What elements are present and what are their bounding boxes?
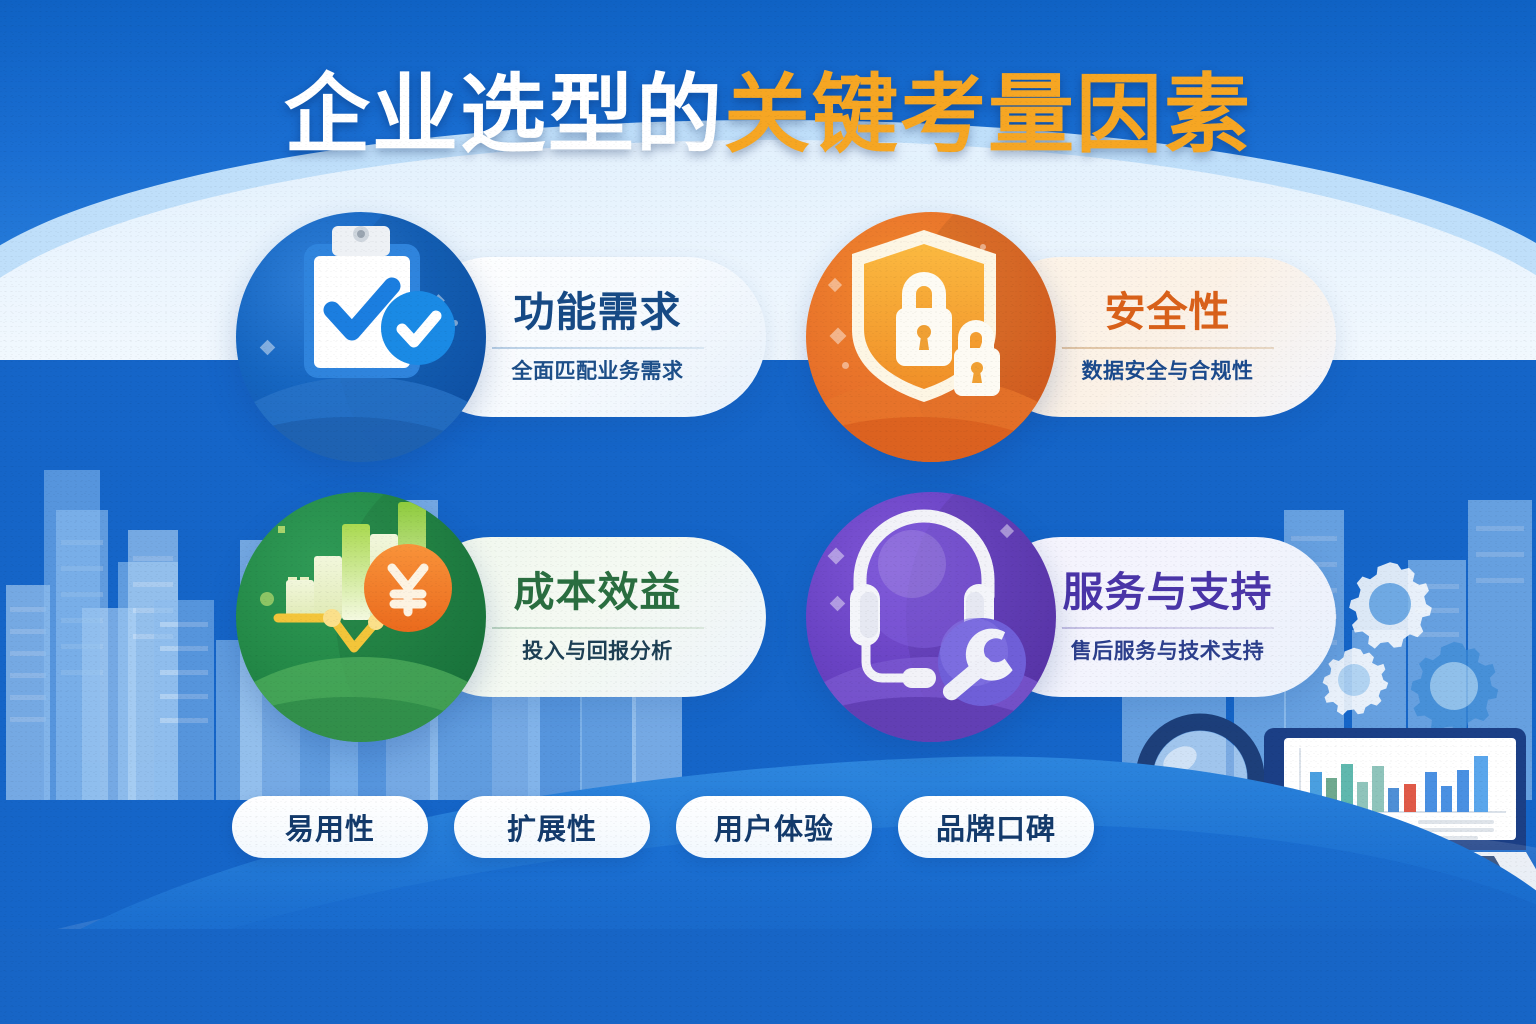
clipboard-check-icon [236, 212, 486, 462]
page-title-orange: 关键考量因素 [724, 65, 1252, 165]
card-divider [492, 627, 704, 629]
card-subtitle: 售后服务与技术支持 [1071, 641, 1265, 662]
card-subtitle: 投入与回报分析 [522, 641, 673, 662]
infographic-canvas: 企业选型的关键考量因素 功能需求 全面匹配业务需求 [0, 0, 1536, 1024]
page-title: 企业选型的关键考量因素 [0, 44, 1536, 169]
shield-lock-icon [806, 212, 1056, 462]
card-icon-circle [806, 492, 1056, 742]
tag-scalability[interactable]: 扩展性 [454, 796, 650, 858]
card-divider [1062, 347, 1274, 349]
headset-wrench-icon [806, 492, 1056, 742]
tag-usability[interactable]: 易用性 [232, 796, 428, 858]
feature-card-grid: 功能需求 全面匹配业务需求 [236, 212, 1366, 732]
card-icon-circle [236, 212, 486, 462]
page-title-white: 企业选型的 [284, 65, 724, 165]
card-subtitle: 数据安全与合规性 [1082, 361, 1254, 382]
feature-card-cost-benefit[interactable]: 成本效益 投入与回报分析 [236, 492, 766, 742]
tag-brand-reputation[interactable]: 品牌口碑 [898, 796, 1094, 858]
feature-card-security[interactable]: 安全性 数据安全与合规性 [806, 212, 1336, 462]
card-divider [1062, 627, 1274, 629]
card-title: 成本效益 [514, 572, 682, 613]
bar-chart-yen-icon [236, 492, 486, 742]
card-title: 服务与支持 [1063, 572, 1273, 613]
card-title: 功能需求 [514, 292, 682, 333]
card-subtitle: 全面匹配业务需求 [512, 361, 684, 382]
card-icon-circle [236, 492, 486, 742]
feature-card-functional-requirements[interactable]: 功能需求 全面匹配业务需求 [236, 212, 766, 462]
background-bottom-strip [0, 929, 1536, 1024]
keyword-tag-list: 易用性 扩展性 用户体验 品牌口碑 [232, 796, 1112, 858]
feature-card-service-support[interactable]: 服务与支持 售后服务与技术支持 [806, 492, 1336, 742]
card-title: 安全性 [1105, 292, 1231, 333]
card-divider [492, 347, 704, 349]
card-icon-circle [806, 212, 1056, 462]
tag-user-experience[interactable]: 用户体验 [676, 796, 872, 858]
